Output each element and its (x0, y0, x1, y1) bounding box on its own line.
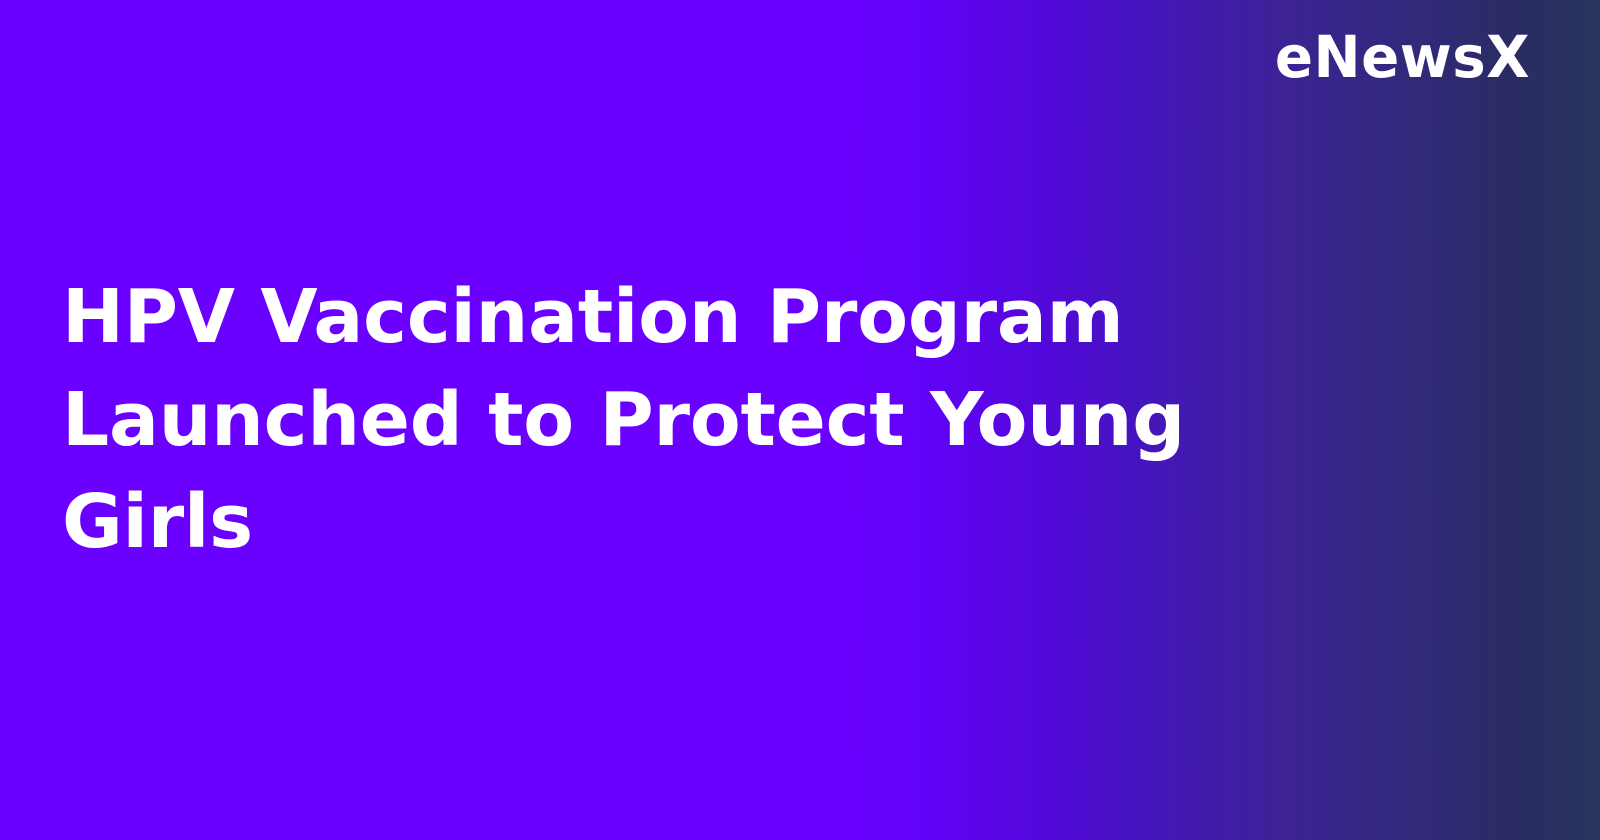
page-title: HPV Vaccination Program Launched to Prot… (62, 266, 1332, 575)
news-banner: eNewsX HPV Vaccination Program Launched … (0, 0, 1600, 840)
headline-container: HPV Vaccination Program Launched to Prot… (62, 0, 1362, 840)
